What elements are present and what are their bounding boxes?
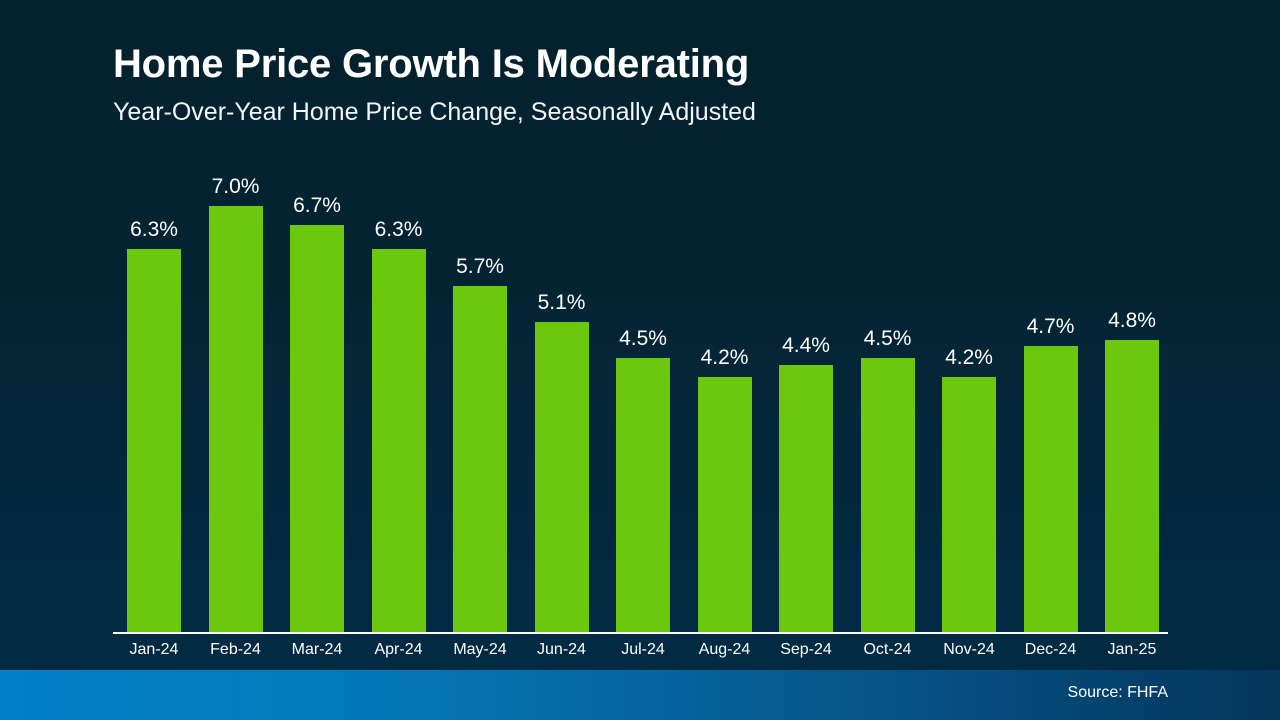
bar-column: 4.2% bbox=[928, 170, 1010, 632]
x-axis-tick-label: Nov-24 bbox=[928, 639, 1010, 661]
bar bbox=[698, 377, 752, 632]
bar bbox=[942, 377, 996, 632]
x-axis-tick-label: Jun-24 bbox=[521, 639, 603, 661]
x-axis-tick-label: Jul-24 bbox=[602, 639, 684, 661]
x-axis-line bbox=[113, 632, 1168, 634]
x-axis-labels: Jan-24Feb-24Mar-24Apr-24May-24Jun-24Jul-… bbox=[113, 639, 1168, 665]
bar bbox=[290, 225, 344, 632]
bar-column: 4.4% bbox=[765, 170, 847, 632]
bar-column: 6.3% bbox=[358, 170, 440, 632]
bar-column: 4.2% bbox=[684, 170, 766, 632]
bar-column: 6.3% bbox=[113, 170, 195, 632]
bar bbox=[779, 365, 833, 632]
x-axis-tick-label: Oct-24 bbox=[847, 639, 929, 661]
header: Home Price Growth Is Moderating Year-Ove… bbox=[113, 42, 1173, 127]
x-axis-tick-label: Apr-24 bbox=[358, 639, 440, 661]
bar-value-label: 4.8% bbox=[1091, 310, 1173, 331]
source-label: Source: FHFA bbox=[1068, 684, 1168, 702]
bar-column: 5.1% bbox=[521, 170, 603, 632]
bar-value-label: 4.5% bbox=[847, 328, 929, 349]
x-axis-tick-label: Sep-24 bbox=[765, 639, 847, 661]
bar bbox=[1024, 346, 1078, 632]
bar-value-label: 7.0% bbox=[195, 176, 277, 197]
bar-column: 5.7% bbox=[439, 170, 521, 632]
chart-plot-area: 6.3%7.0%6.7%6.3%5.7%5.1%4.5%4.2%4.4%4.5%… bbox=[113, 170, 1168, 632]
bars-layer: 6.3%7.0%6.7%6.3%5.7%5.1%4.5%4.2%4.4%4.5%… bbox=[113, 170, 1168, 632]
bar-value-label: 4.2% bbox=[928, 347, 1010, 368]
x-axis-tick-label: Mar-24 bbox=[276, 639, 358, 661]
slide-canvas: Home Price Growth Is Moderating Year-Ove… bbox=[0, 0, 1280, 720]
bar-value-label: 4.2% bbox=[684, 347, 766, 368]
bar-value-label: 6.3% bbox=[113, 219, 195, 240]
bar bbox=[861, 358, 915, 632]
x-axis-tick-label: Jan-24 bbox=[113, 639, 195, 661]
bar bbox=[616, 358, 670, 632]
bar bbox=[535, 322, 589, 632]
bar-value-label: 4.5% bbox=[602, 328, 684, 349]
bar-value-label: 6.7% bbox=[276, 195, 358, 216]
bar-column: 4.5% bbox=[602, 170, 684, 632]
bar-column: 7.0% bbox=[195, 170, 277, 632]
bar-column: 4.7% bbox=[1010, 170, 1092, 632]
x-axis-tick-label: Jan-25 bbox=[1091, 639, 1173, 661]
x-axis-tick-label: Feb-24 bbox=[195, 639, 277, 661]
bar bbox=[127, 249, 181, 632]
bar bbox=[209, 206, 263, 632]
bar bbox=[1105, 340, 1159, 632]
x-axis-tick-label: Aug-24 bbox=[684, 639, 766, 661]
footer-bar: Source: FHFA bbox=[0, 670, 1280, 720]
bar-column: 4.5% bbox=[847, 170, 929, 632]
bar-value-label: 5.7% bbox=[439, 256, 521, 277]
x-axis-tick-label: Dec-24 bbox=[1010, 639, 1092, 661]
bar-value-label: 4.4% bbox=[765, 335, 847, 356]
bar-column: 4.8% bbox=[1091, 170, 1173, 632]
bar-value-label: 6.3% bbox=[358, 219, 440, 240]
page-title: Home Price Growth Is Moderating bbox=[113, 42, 1173, 87]
bar-value-label: 5.1% bbox=[521, 292, 603, 313]
x-axis-tick-label: May-24 bbox=[439, 639, 521, 661]
bar bbox=[372, 249, 426, 632]
chart-subtitle: Year-Over-Year Home Price Change, Season… bbox=[113, 97, 1173, 127]
bar bbox=[453, 286, 507, 633]
bar-value-label: 4.7% bbox=[1010, 316, 1092, 337]
bar-column: 6.7% bbox=[276, 170, 358, 632]
